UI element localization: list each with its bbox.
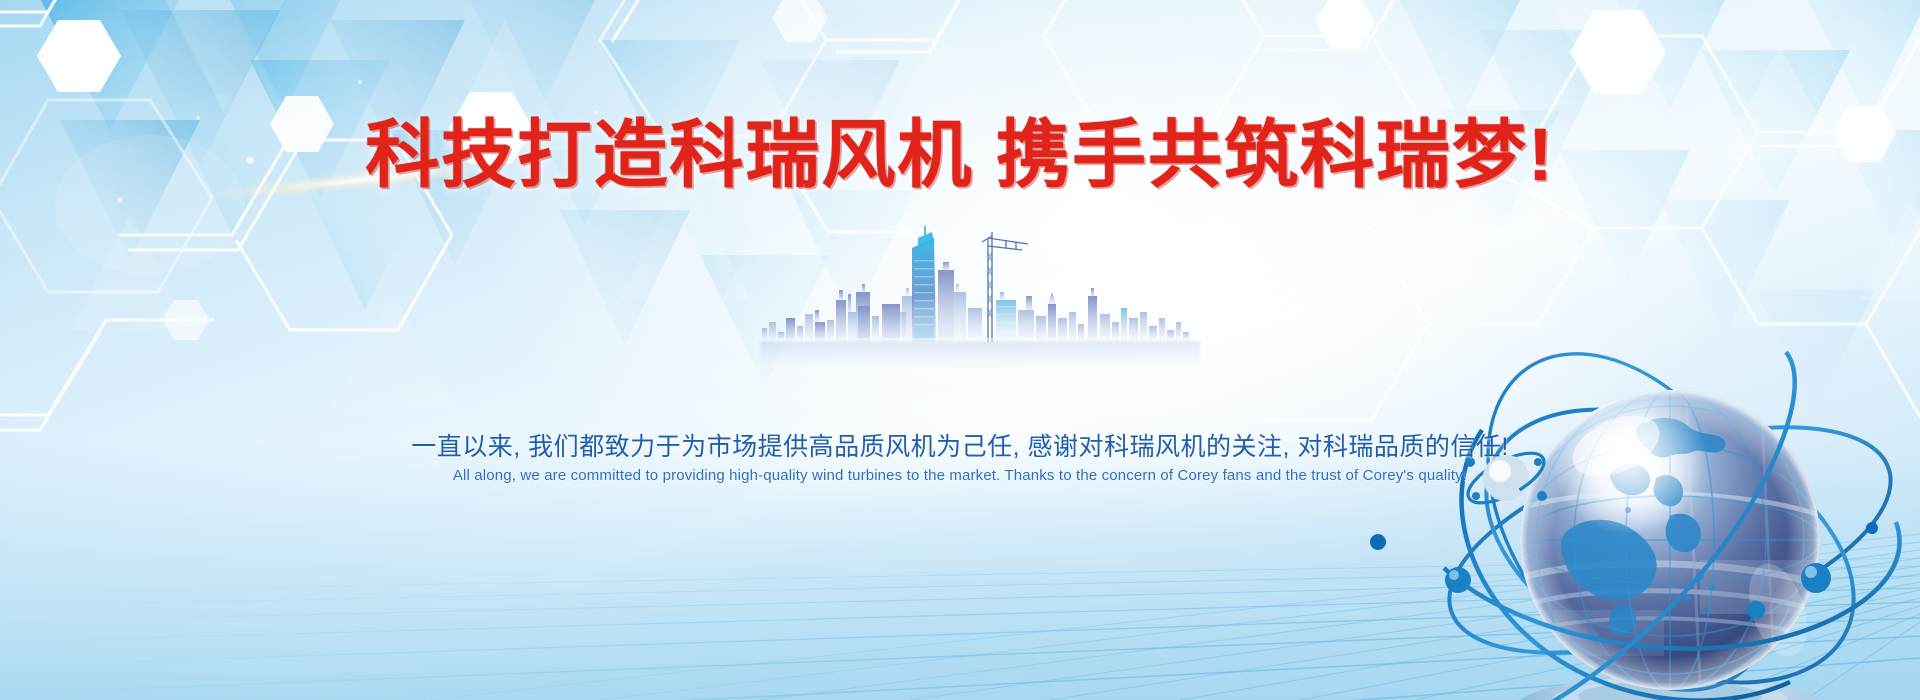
hero-banner: 科技打造科瑞风机 携手共筑科瑞梦! 一直以来, 我们都致力于为市场提供高品质风机… bbox=[0, 0, 1920, 700]
subtitle-chinese: 一直以来, 我们都致力于为市场提供高品质风机为己任, 感谢对科瑞风机的关注, 对… bbox=[0, 427, 1920, 463]
globe-icon bbox=[1370, 310, 1920, 700]
page-title: 科技打造科瑞风机 携手共筑科瑞梦! bbox=[0, 118, 1920, 192]
subtitle-english: All along, we are committed to providing… bbox=[0, 467, 1920, 484]
skyline-reflection bbox=[760, 341, 1200, 367]
city-skyline-icon bbox=[760, 222, 1200, 342]
